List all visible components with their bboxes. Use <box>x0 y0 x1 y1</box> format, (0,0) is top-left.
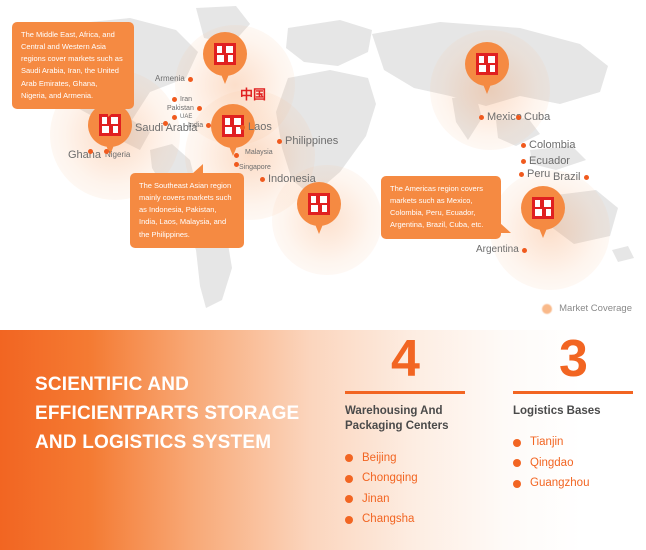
city-dot-icon <box>260 177 265 182</box>
list-item[interactable]: Qingdao <box>513 453 633 473</box>
callout-pointer <box>192 164 203 174</box>
legend-label: Market Coverage <box>559 303 632 314</box>
list-item-label: Changsha <box>362 509 414 529</box>
world-map: Armenia Iran Pakistan UAE India Saudi Ar… <box>0 0 646 330</box>
city-dot-icon <box>516 115 521 120</box>
callout-middle-east-africa: The Middle East, Africa, and Central and… <box>12 22 134 109</box>
city-label-uae: UAE <box>172 114 192 121</box>
stats-row: 4 Warehousing And Packaging Centers Beij… <box>345 336 635 530</box>
callout-southeast-asia: The Southeast Asian region mainly covers… <box>130 173 244 248</box>
callout-pointer <box>108 108 118 117</box>
stat-divider <box>513 391 633 394</box>
city-label-singapore: Singapore <box>236 164 271 171</box>
stat-number: 3 <box>513 336 633 384</box>
brand-logo-icon <box>214 43 236 65</box>
city-label-brazil: Brazil <box>553 172 589 183</box>
city-dot-icon <box>519 172 524 177</box>
city-label-argentina: Argentina <box>476 245 527 256</box>
infographic-root: Armenia Iran Pakistan UAE India Saudi Ar… <box>0 0 646 550</box>
bullet-dot-icon <box>513 480 521 488</box>
city-dot-icon <box>172 97 177 102</box>
city-label-pakistan: Pakistan <box>167 105 202 112</box>
city-label-malaysia: Malaysia <box>242 149 273 156</box>
stat-city-list: Tianjin Qingdao Guangzhou <box>513 432 633 493</box>
bullet-dot-icon <box>345 516 353 524</box>
brand-logo-icon <box>476 53 498 75</box>
city-dot-icon <box>234 162 239 167</box>
callout-americas: The Americas region covers markets such … <box>381 176 501 239</box>
list-item[interactable]: Guangzhou <box>513 473 633 493</box>
city-dot-icon <box>197 106 202 111</box>
city-dot-icon <box>522 248 527 253</box>
list-item-label: Tianjin <box>530 432 563 452</box>
callout-text: The Southeast Asian region mainly covers… <box>139 181 232 239</box>
city-label-philippines: Philippines <box>277 136 338 147</box>
city-dot-nigeria <box>104 144 109 160</box>
brand-logo-icon <box>99 114 121 136</box>
country-label-china: 中国 <box>240 84 266 103</box>
city-dot-icon <box>277 139 282 144</box>
stat-caption: Logistics Bases <box>513 404 633 420</box>
city-dot-icon <box>172 115 177 120</box>
list-item-label: Chongqing <box>362 468 418 488</box>
list-item-label: Beijing <box>362 448 397 468</box>
callout-pointer <box>500 223 511 233</box>
stat-block-logistics: 3 Logistics Bases Tianjin Qingdao Guangz… <box>513 336 633 530</box>
bullet-dot-icon <box>513 439 521 447</box>
city-dot-icon <box>584 175 589 180</box>
stat-city-list: Beijing Chongqing Jinan Changsha <box>345 448 465 530</box>
city-dot-ghana <box>88 144 93 160</box>
city-dot-icon <box>206 123 211 128</box>
city-label-colombia: Colombia <box>521 140 575 151</box>
city-label-indonesia: Indonesia <box>260 174 316 185</box>
city-label-iran: Iran <box>172 96 192 103</box>
bullet-dot-icon <box>345 475 353 483</box>
list-item[interactable]: Beijing <box>345 448 465 468</box>
city-dot-icon <box>163 121 168 126</box>
city-label-armenia: Armenia <box>155 75 193 83</box>
list-item[interactable]: Changsha <box>345 509 465 529</box>
city-label-ghana: Ghana <box>68 150 104 161</box>
city-dot-icon <box>104 149 109 154</box>
map-pin-south-america[interactable] <box>521 186 565 242</box>
map-legend: Market Coverage <box>542 303 632 314</box>
callout-text: The Middle East, Africa, and Central and… <box>21 30 123 100</box>
city-label-peru: Peru <box>519 169 550 180</box>
list-item-label: Qingdao <box>530 453 573 473</box>
stat-caption: Warehousing And Packaging Centers <box>345 404 465 435</box>
list-item[interactable]: Chongqing <box>345 468 465 488</box>
callout-text: The Americas region covers markets such … <box>390 184 483 229</box>
list-item[interactable]: Tianjin <box>513 432 633 452</box>
city-dot-icon <box>521 159 526 164</box>
stat-divider <box>345 391 465 394</box>
city-dot-icon <box>479 115 484 120</box>
city-label-laos: Laos <box>240 122 272 133</box>
map-pin-north-america[interactable] <box>465 42 509 98</box>
map-pin-oceania[interactable] <box>297 182 341 238</box>
city-dot-icon <box>188 77 193 82</box>
stat-block-warehousing: 4 Warehousing And Packaging Centers Beij… <box>345 336 465 530</box>
city-dot-icon <box>88 149 93 154</box>
bullet-dot-icon <box>345 454 353 462</box>
brand-logo-icon <box>532 197 554 219</box>
page-title: SCIENTIFIC AND EFFICIENTPARTS STORAGE AN… <box>35 371 305 458</box>
city-dot-singapore <box>234 157 239 173</box>
map-pin-china[interactable] <box>203 32 247 88</box>
bullet-dot-icon <box>513 459 521 467</box>
city-dot-saudi-arabia <box>163 116 168 132</box>
city-label-cuba: Cuba <box>516 112 550 123</box>
city-label-ecuador: Ecuador <box>521 156 570 167</box>
stat-number: 4 <box>345 336 465 384</box>
brand-logo-icon <box>308 193 330 215</box>
list-item[interactable]: Jinan <box>345 489 465 509</box>
coverage-dot-icon <box>542 304 552 314</box>
bullet-dot-icon <box>345 495 353 503</box>
city-dot-icon <box>240 125 245 130</box>
list-item-label: Jinan <box>362 489 390 509</box>
city-dot-icon <box>521 143 526 148</box>
list-item-label: Guangzhou <box>530 473 589 493</box>
